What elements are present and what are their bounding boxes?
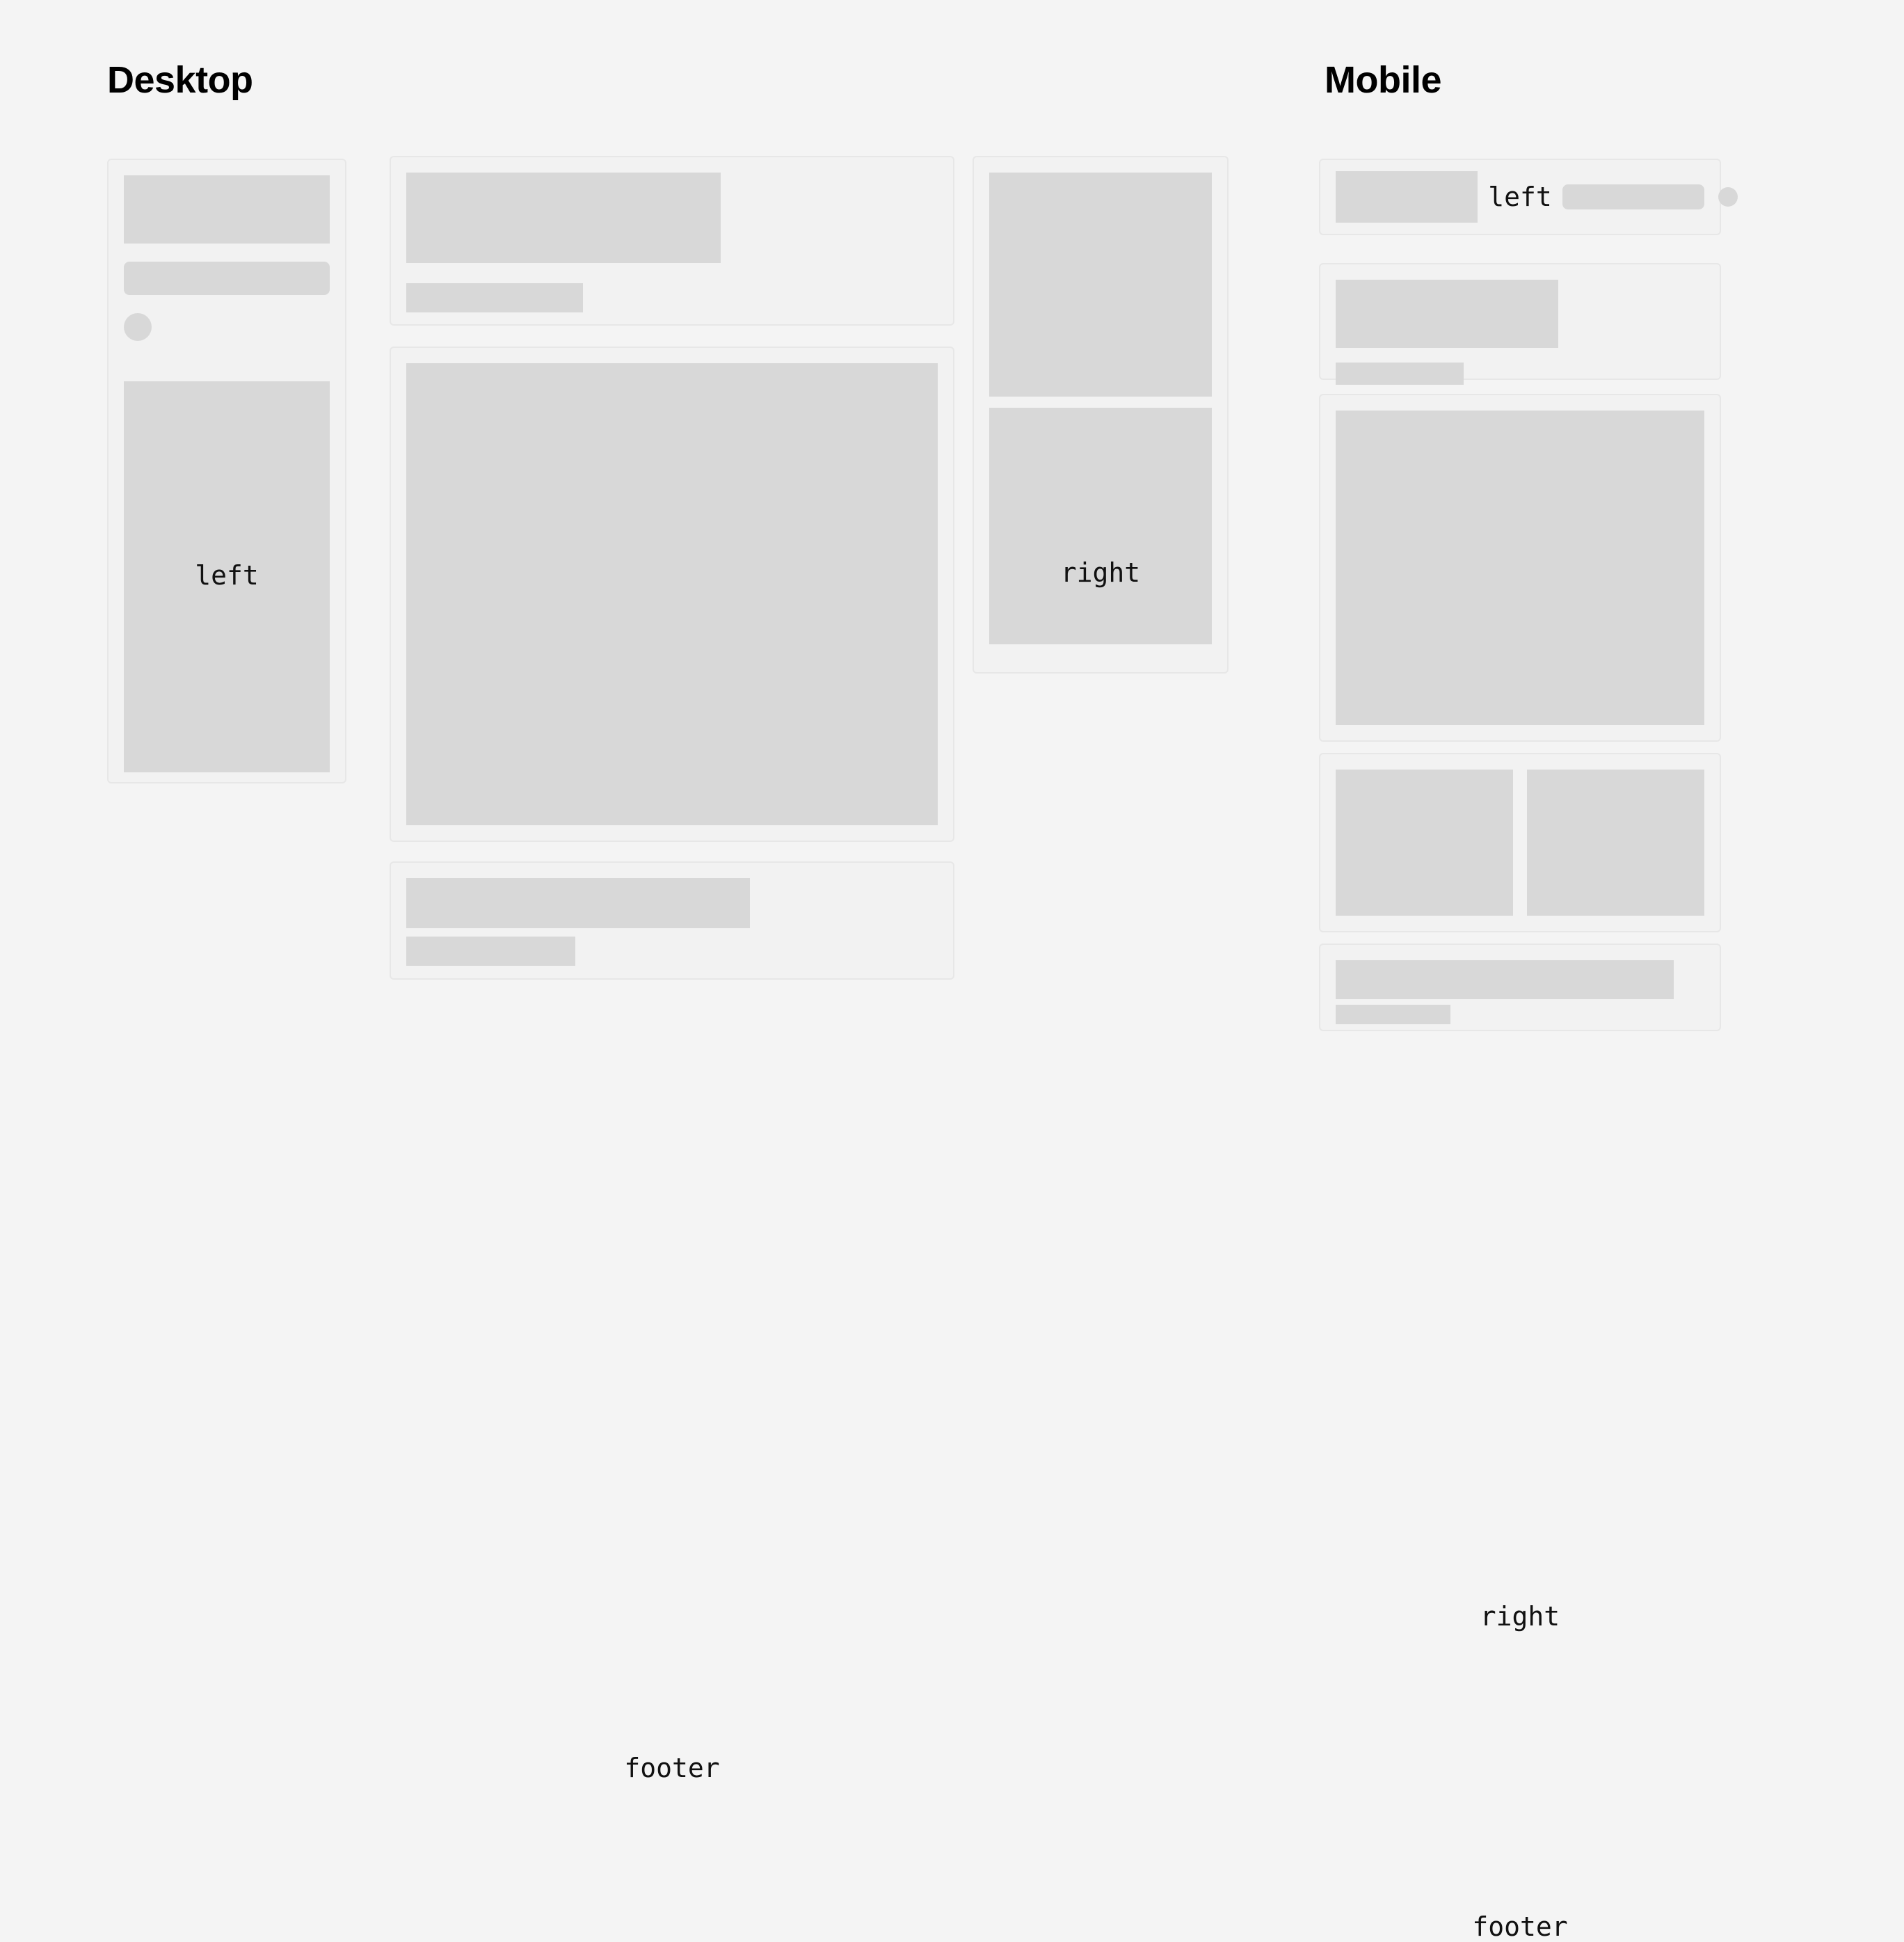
mobile-beforebody-slot-panel[interactable]: beforeBody <box>1319 263 1721 380</box>
placeholder-bar <box>124 262 330 295</box>
mobile-section-heading: Mobile <box>1325 61 1441 99</box>
placeholder-block <box>989 408 1212 644</box>
placeholder-bar <box>406 937 575 966</box>
mobile-left-slot-panel[interactable]: left <box>1319 159 1721 235</box>
mobile-right-slot-panel[interactable]: right <box>1319 753 1721 932</box>
desktop-pagebody-slot-panel[interactable]: pageBody <box>390 347 954 842</box>
layout-preview-canvas: Desktop Mobile left beforeBody pageBody … <box>0 0 1904 1076</box>
desktop-footer-slot-label: footer <box>391 1755 953 1781</box>
placeholder-avatar-circle <box>124 313 152 341</box>
desktop-footer-slot-panel[interactable]: footer <box>390 861 954 980</box>
mobile-pagebody-slot-panel[interactable]: pageBody <box>1319 394 1721 742</box>
mobile-footer-slot-label: footer <box>1320 1913 1720 1940</box>
desktop-left-slot-panel[interactable]: left <box>107 159 346 783</box>
placeholder-block <box>1336 960 1674 999</box>
placeholder-block <box>406 878 750 928</box>
placeholder-block <box>124 175 330 244</box>
placeholder-block <box>1336 171 1478 223</box>
placeholder-bar <box>1336 363 1464 385</box>
placeholder-bar <box>1562 184 1704 209</box>
placeholder-block <box>1336 411 1704 725</box>
placeholder-block <box>1336 280 1558 348</box>
placeholder-block <box>1527 770 1704 916</box>
placeholder-block <box>1336 770 1513 916</box>
placeholder-bar <box>406 283 583 312</box>
placeholder-block <box>989 173 1212 397</box>
placeholder-panel-block <box>124 381 330 772</box>
placeholder-avatar-circle <box>1718 187 1738 207</box>
placeholder-bar <box>1336 1005 1450 1024</box>
mobile-footer-slot-panel[interactable]: footer <box>1319 944 1721 1031</box>
mobile-right-slot-label: right <box>1320 1603 1720 1630</box>
placeholder-block <box>406 173 721 263</box>
placeholder-block <box>406 363 938 825</box>
desktop-beforebody-slot-panel[interactable]: beforeBody <box>390 156 954 326</box>
desktop-section-heading: Desktop <box>107 61 253 99</box>
desktop-right-slot-panel[interactable]: right <box>973 156 1229 674</box>
